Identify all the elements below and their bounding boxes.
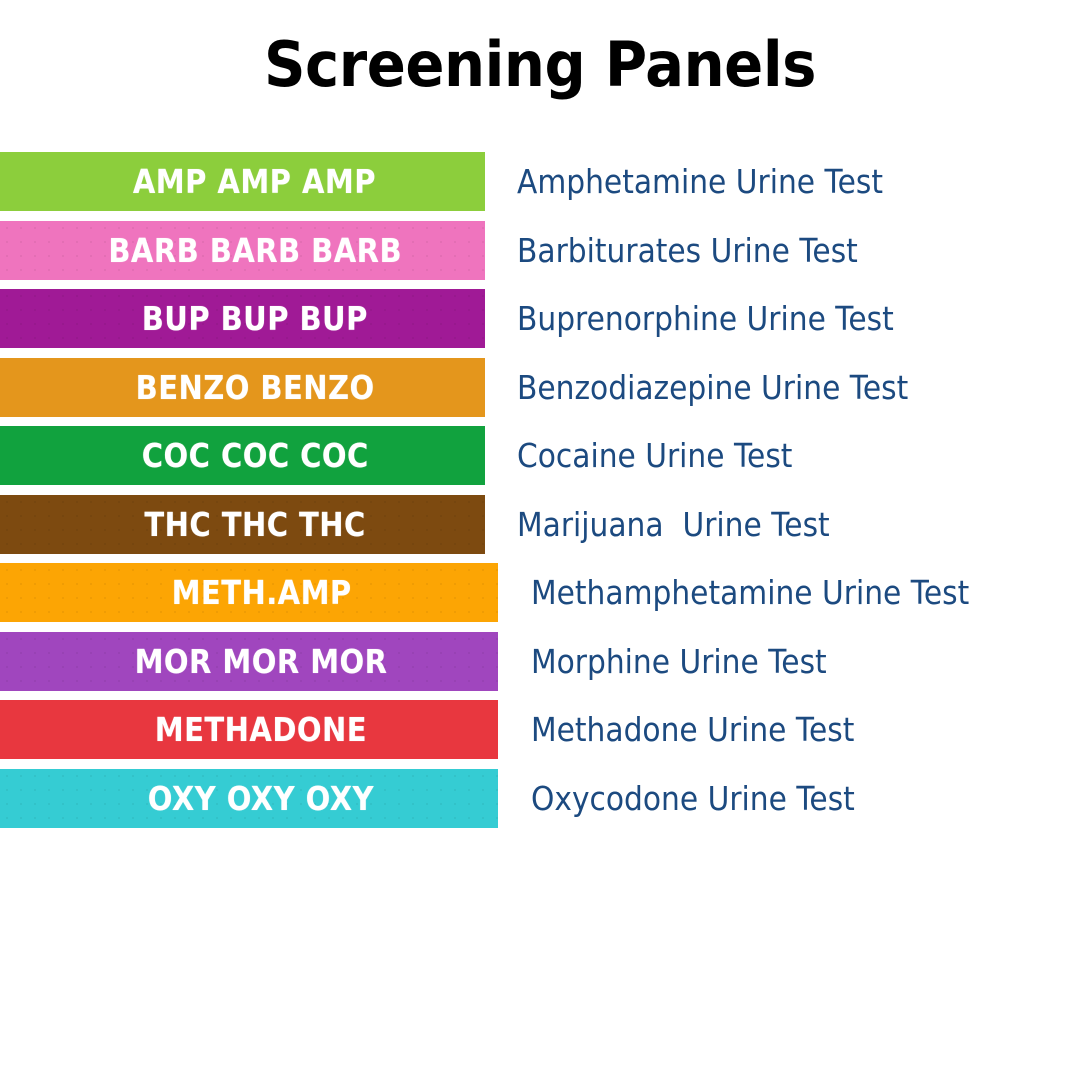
panel-row[interactable]: METHADONEMethadone Urine Test [0, 700, 1080, 769]
panel-code-label: COC COC COC [141, 426, 368, 485]
panel-code-bar[interactable]: THC THC THC [0, 495, 485, 554]
panel-row[interactable]: AMP AMP AMPAmphetamine Urine Test [0, 152, 1080, 221]
panel-code-bar[interactable]: AMP AMP AMP [0, 152, 485, 211]
panel-code-bar[interactable]: BARB BARB BARB [0, 221, 485, 280]
panel-code-label: BARB BARB BARB [108, 221, 402, 280]
panel-description: Benzodiazepine Urine Test [517, 358, 908, 417]
panel-row[interactable]: METH.AMPMethamphetamine Urine Test [0, 563, 1080, 632]
panel-description: Oxycodone Urine Test [531, 769, 855, 828]
panel-code-label: OXY OXY OXY [148, 769, 374, 828]
panel-description: Amphetamine Urine Test [517, 152, 883, 211]
panel-list: AMP AMP AMPAmphetamine Urine TestBARB BA… [0, 152, 1080, 837]
panel-row[interactable]: COC COC COCCocaine Urine Test [0, 426, 1080, 495]
panel-code-bar[interactable]: BENZO BENZO [0, 358, 485, 417]
panel-code-bar[interactable]: OXY OXY OXY [0, 769, 498, 828]
panel-code-label: BUP BUP BUP [142, 289, 368, 348]
panel-description: Barbiturates Urine Test [517, 221, 858, 280]
panel-code-label: METH.AMP [171, 563, 351, 622]
panel-code-label: AMP AMP AMP [133, 152, 376, 211]
panel-code-label: BENZO BENZO [135, 358, 374, 417]
screening-panels-page: Screening Panels AMP AMP AMPAmphetamine … [0, 0, 1080, 1080]
panel-row[interactable]: THC THC THCMarijuana Urine Test [0, 495, 1080, 564]
panel-code-label: THC THC THC [144, 495, 365, 554]
panel-row[interactable]: BUP BUP BUPBuprenorphine Urine Test [0, 289, 1080, 358]
panel-description: Methamphetamine Urine Test [531, 563, 969, 622]
panel-row[interactable]: BENZO BENZOBenzodiazepine Urine Test [0, 358, 1080, 427]
panel-description: Marijuana Urine Test [517, 495, 830, 554]
panel-row[interactable]: OXY OXY OXYOxycodone Urine Test [0, 769, 1080, 838]
page-title: Screening Panels [38, 28, 1042, 102]
panel-code-bar[interactable]: COC COC COC [0, 426, 485, 485]
panel-description: Morphine Urine Test [531, 632, 827, 691]
panel-row[interactable]: BARB BARB BARBBarbiturates Urine Test [0, 221, 1080, 290]
panel-description: Buprenorphine Urine Test [517, 289, 894, 348]
panel-description: Cocaine Urine Test [517, 426, 792, 485]
panel-code-bar[interactable]: METHADONE [0, 700, 498, 759]
panel-code-bar[interactable]: METH.AMP [0, 563, 498, 622]
panel-code-label: MOR MOR MOR [135, 632, 388, 691]
panel-code-label: METHADONE [155, 700, 367, 759]
panel-code-bar[interactable]: BUP BUP BUP [0, 289, 485, 348]
panel-code-bar[interactable]: MOR MOR MOR [0, 632, 498, 691]
panel-description: Methadone Urine Test [531, 700, 854, 759]
panel-row[interactable]: MOR MOR MORMorphine Urine Test [0, 632, 1080, 701]
